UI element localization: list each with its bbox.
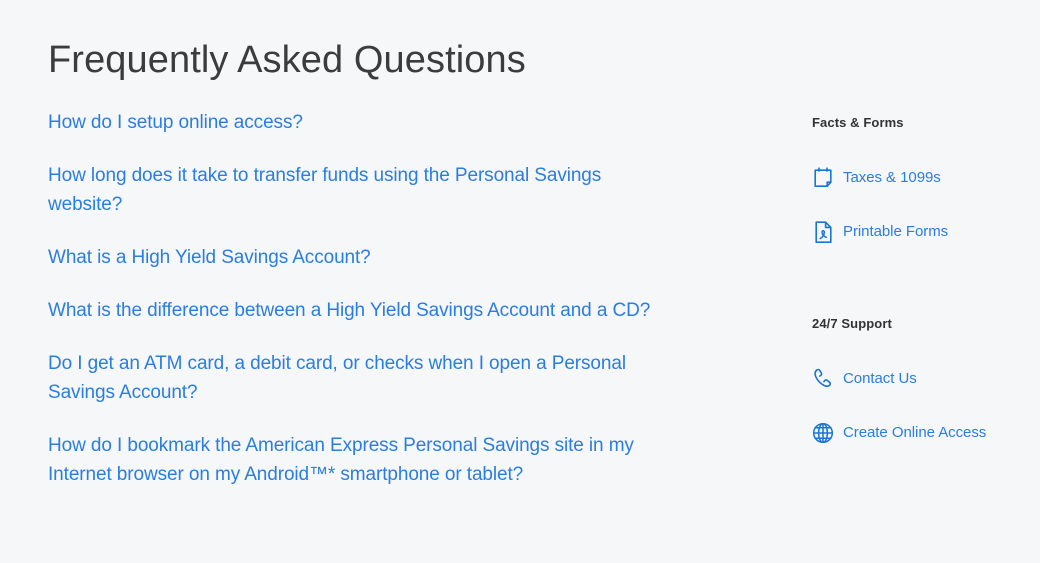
sidebar-link-create-online-access[interactable]: Create Online Access <box>843 423 986 443</box>
faq-item: How do I setup online access? <box>48 108 708 137</box>
sidebar-heading-facts-forms: Facts & Forms <box>812 114 1027 132</box>
faq-item: How long does it take to transfer funds … <box>48 161 708 219</box>
faq-page: Frequently Asked Questions How do I setu… <box>0 0 1040 563</box>
page-title: Frequently Asked Questions <box>48 0 708 86</box>
notepad-icon <box>812 166 834 190</box>
faq-link-transfer-funds[interactable]: How long does it take to transfer funds … <box>48 161 658 219</box>
sidebar-link-taxes-1099s[interactable]: Taxes & 1099s <box>843 168 941 188</box>
faq-link-savings-vs-cd[interactable]: What is the difference between a High Yi… <box>48 296 658 325</box>
faq-link-bookmark-android[interactable]: How do I bookmark the American Express P… <box>48 431 658 489</box>
faq-link-high-yield-savings[interactable]: What is a High Yield Savings Account? <box>48 243 658 272</box>
sidebar-item-taxes-1099s[interactable]: Taxes & 1099s <box>812 166 1027 190</box>
support-link-list: Contact Us Create Online Access <box>812 367 1027 445</box>
sidebar-item-printable-forms[interactable]: Printable Forms <box>812 220 1027 244</box>
faq-item: How do I bookmark the American Express P… <box>48 431 708 489</box>
phone-icon <box>812 367 834 391</box>
sidebar-section-facts-forms: Facts & Forms Taxes & 1099s <box>812 114 1027 244</box>
sidebar-item-create-online-access[interactable]: Create Online Access <box>812 421 1027 445</box>
faq-link-list: How do I setup online access? How long d… <box>48 108 708 489</box>
sidebar-link-printable-forms[interactable]: Printable Forms <box>843 222 948 242</box>
faq-item: What is the difference between a High Yi… <box>48 296 708 325</box>
faq-item: Do I get an ATM card, a debit card, or c… <box>48 349 708 407</box>
sidebar-section-support: 24/7 Support Contact Us <box>812 315 1027 445</box>
faq-link-online-access[interactable]: How do I setup online access? <box>48 108 658 137</box>
faq-link-atm-debit-checks[interactable]: Do I get an ATM card, a debit card, or c… <box>48 349 658 407</box>
sidebar-item-contact-us[interactable]: Contact Us <box>812 367 1027 391</box>
globe-icon <box>812 421 834 445</box>
facts-forms-link-list: Taxes & 1099s Printable Forms <box>812 166 1027 244</box>
faq-item: What is a High Yield Savings Account? <box>48 243 708 272</box>
pdf-file-icon <box>812 220 834 244</box>
sidebar-link-contact-us[interactable]: Contact Us <box>843 369 917 389</box>
sidebar-heading-support: 24/7 Support <box>812 315 1027 333</box>
main-content: Frequently Asked Questions How do I setu… <box>48 0 708 489</box>
